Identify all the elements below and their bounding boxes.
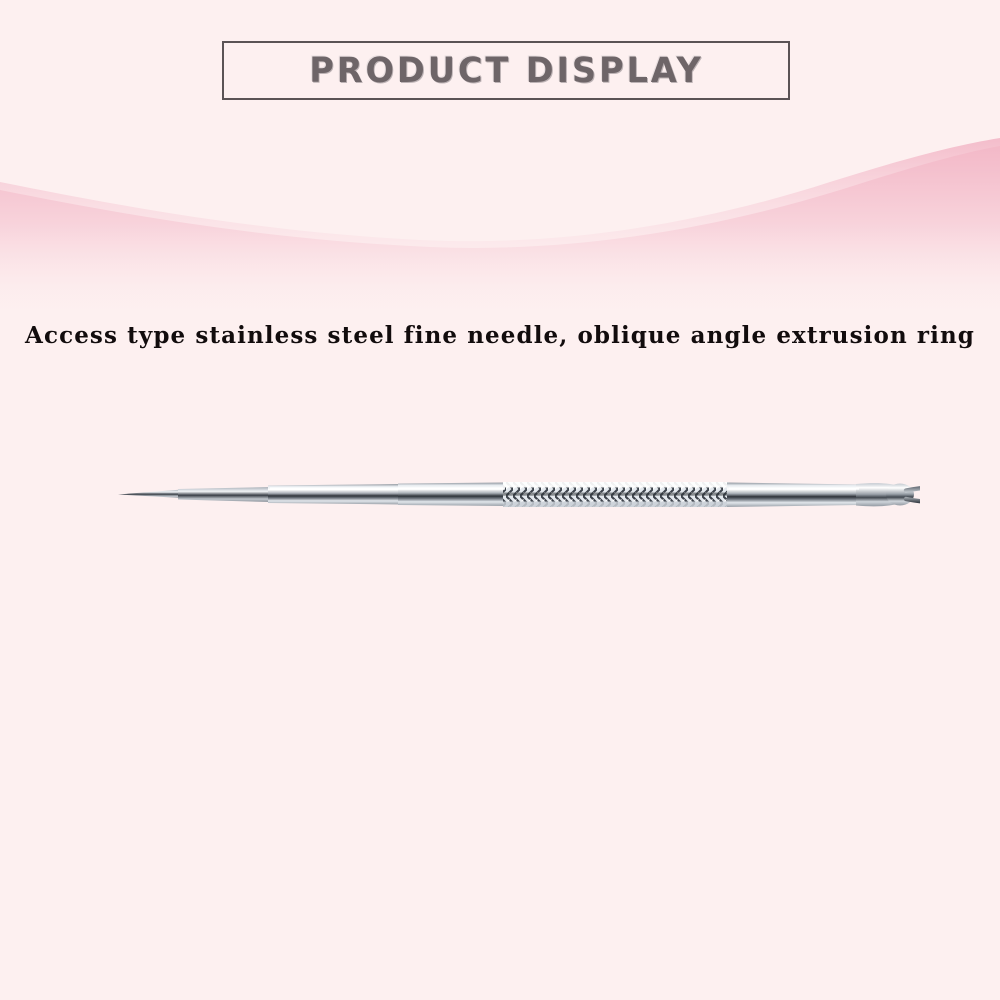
shaft-upper — [727, 483, 860, 508]
shaft-lower — [268, 484, 400, 505]
loop-head-bulb — [886, 484, 914, 506]
detail-circles-row — [0, 680, 1000, 920]
needle-point — [118, 490, 182, 499]
decorative-pink-wave — [0, 120, 1000, 320]
page-title-box: PRODUCT DISPLAY — [222, 41, 790, 100]
shaft-mid — [398, 483, 505, 507]
product-tagline: Access type stainless steel fine needle,… — [0, 322, 1000, 349]
page-title: PRODUCT DISPLAY — [309, 51, 703, 91]
wave-back-shape — [0, 138, 1000, 320]
product-hero-image — [100, 440, 920, 550]
product-display-page: PRODUCT DISPLAY Access type stainless st… — [0, 0, 1000, 1000]
needle-neck — [178, 487, 270, 502]
wave-front-shape — [0, 146, 1000, 320]
